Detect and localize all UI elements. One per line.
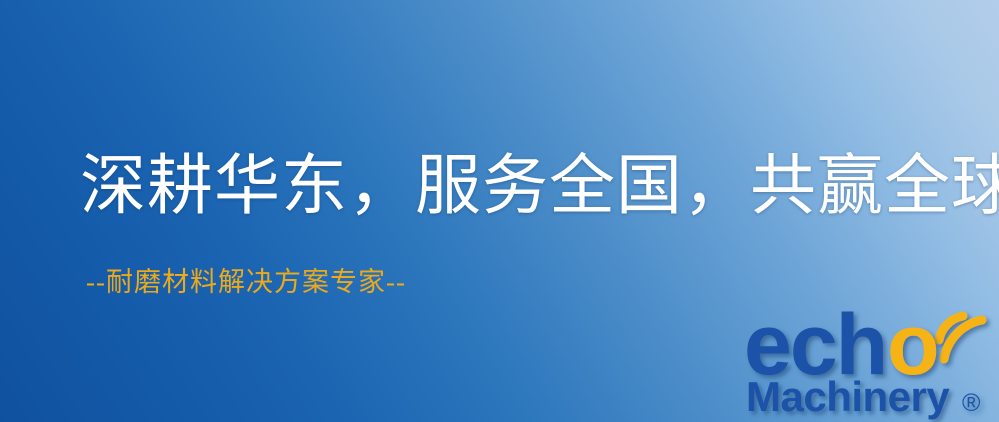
hero-banner: 深耕华东，服务全国，共赢全球 --耐磨材料解决方案专家-- ech o Mach… (0, 0, 999, 422)
logo-artwork: ech o Machinery ® (744, 292, 999, 422)
logo-registered-mark: ® (962, 389, 981, 417)
echo-machinery-logo[interactable]: ech o Machinery ® (744, 292, 999, 422)
banner-subtitle: --耐磨材料解决方案专家-- (86, 266, 406, 298)
banner-headline: 深耕华东，服务全国，共赢全球 (80, 152, 999, 221)
signal-arcs-icon (939, 316, 982, 359)
logo-tagline-machinery: Machinery (746, 373, 950, 420)
